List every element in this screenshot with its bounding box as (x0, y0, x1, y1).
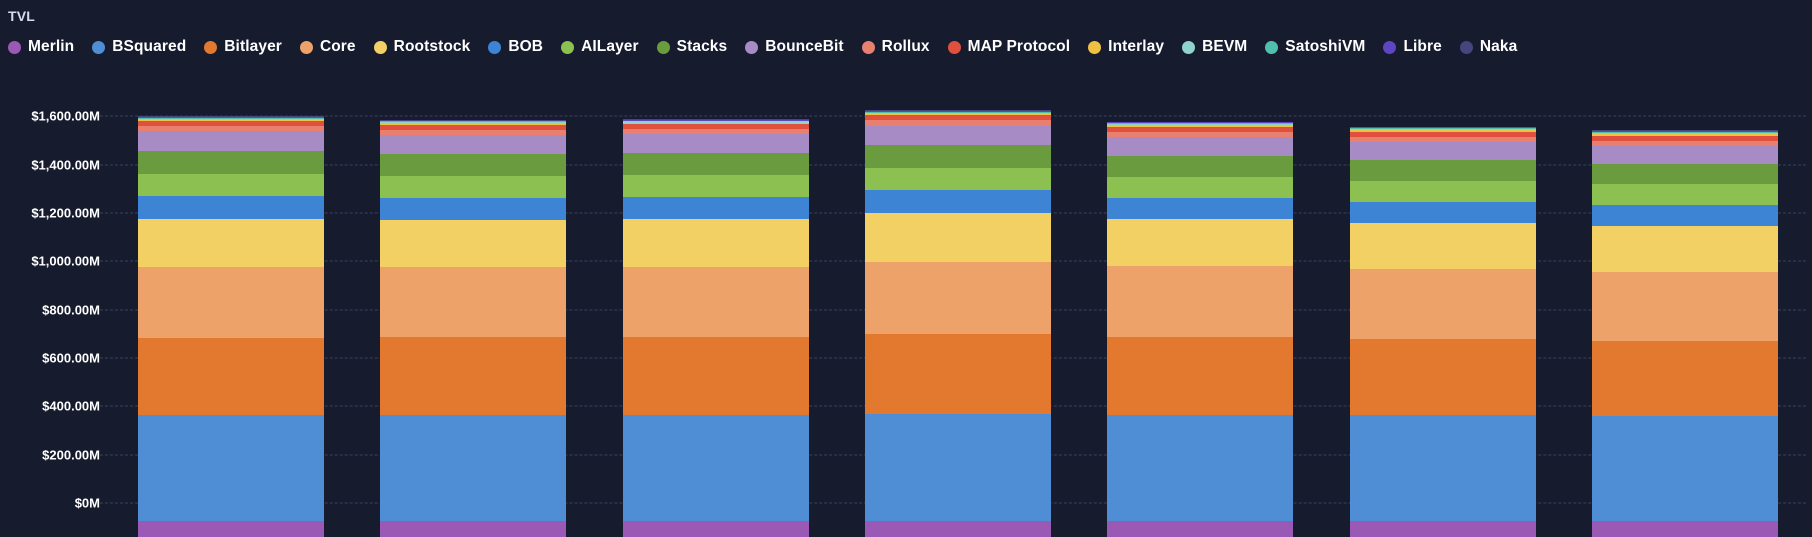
bar-segment-stacks[interactable] (1592, 164, 1778, 184)
plot-area: $1,600.00M$1,400.00M$1,200.00M$1,000.00M… (0, 68, 1812, 537)
bar-segment-bob[interactable] (1350, 202, 1536, 223)
legend-item-label: Merlin (28, 38, 74, 56)
y-axis-tick-label: $1,600.00M (31, 109, 100, 124)
bar-segment-bouncebit[interactable] (865, 126, 1051, 146)
bar-segment-rootstock[interactable] (1350, 223, 1536, 269)
bar-segment-bouncebit[interactable] (1350, 142, 1536, 160)
bar-segment-ailayer[interactable] (1592, 184, 1778, 205)
legend-item-label: SatoshiVM (1285, 38, 1365, 56)
legend-item-label: Interlay (1108, 38, 1164, 56)
legend-item-bevm[interactable]: BEVM (1182, 38, 1247, 56)
legend-item-core[interactable]: Core (300, 38, 356, 56)
bar-group: June 18, 2025 (1079, 102, 1321, 537)
legend-item-interlay[interactable]: Interlay (1088, 38, 1164, 56)
legend-swatch-icon (374, 41, 387, 54)
y-axis-tick-label: $1,000.00M (31, 254, 100, 269)
y-axis-tick-label: $1,200.00M (31, 206, 100, 221)
bar-segment-bsquared[interactable] (623, 415, 809, 522)
legend-item-map-protocol[interactable]: MAP Protocol (948, 38, 1071, 56)
bar-segment-merlin[interactable] (1350, 521, 1536, 537)
bar-segment-ailayer[interactable] (623, 175, 809, 197)
chart-root: TVL MerlinBSquaredBitlayerCoreRootstockB… (0, 0, 1812, 537)
bar-group: June 16, 2025 (595, 102, 837, 537)
legend-swatch-icon (862, 41, 875, 54)
bar-segment-stacks[interactable] (865, 145, 1051, 168)
bar-segment-bsquared[interactable] (865, 414, 1051, 522)
bar-segment-bob[interactable] (380, 198, 566, 220)
bar-segment-bitlayer[interactable] (138, 338, 324, 416)
legend-item-label: MAP Protocol (968, 38, 1071, 56)
bar-group: June 20, 2025 (1564, 102, 1806, 537)
bar-segment-bouncebit[interactable] (138, 131, 324, 151)
legend-item-label: Stacks (677, 38, 728, 56)
bar-segment-bsquared[interactable] (380, 415, 566, 521)
bar-segment-ailayer[interactable] (138, 174, 324, 196)
bar-segment-bouncebit[interactable] (1107, 137, 1293, 156)
bar-segment-bob[interactable] (1592, 205, 1778, 226)
legend-item-label: BEVM (1202, 38, 1247, 56)
bar-segment-stacks[interactable] (380, 154, 566, 176)
legend-swatch-icon (8, 41, 21, 54)
legend-item-ailayer[interactable]: AILayer (561, 38, 639, 56)
legend-swatch-icon (1182, 41, 1195, 54)
legend-swatch-icon (92, 41, 105, 54)
bar-segment-bitlayer[interactable] (623, 337, 809, 415)
bar-segment-bob[interactable] (1107, 198, 1293, 219)
bar-segment-core[interactable] (1107, 266, 1293, 337)
bar-segment-bitlayer[interactable] (1592, 341, 1778, 417)
bar-segment-core[interactable] (138, 267, 324, 338)
bar-group: June 14, 2025 (110, 102, 352, 537)
bar-segment-ailayer[interactable] (1350, 181, 1536, 202)
bar-segment-rootstock[interactable] (865, 213, 1051, 262)
legend-item-stacks[interactable]: Stacks (657, 38, 728, 56)
chart-legend: MerlinBSquaredBitlayerCoreRootstockBOBAI… (8, 36, 1808, 58)
y-axis-tick-label: $0M (75, 496, 100, 511)
bar-segment-core[interactable] (380, 267, 566, 337)
legend-item-bitlayer[interactable]: Bitlayer (204, 38, 282, 56)
bar-series-container: June 14, 2025June 15, 2025June 16, 2025J… (110, 68, 1806, 537)
bar-group: June 19, 2025 (1321, 102, 1563, 537)
stacked-bar[interactable] (865, 110, 1051, 537)
legend-item-bsquared[interactable]: BSquared (92, 38, 186, 56)
bar-segment-bsquared[interactable] (1350, 415, 1536, 521)
bar-segment-core[interactable] (623, 267, 809, 337)
legend-swatch-icon (1383, 41, 1396, 54)
bar-segment-bitlayer[interactable] (380, 337, 566, 416)
bar-segment-merlin[interactable] (138, 521, 324, 537)
bar-segment-bouncebit[interactable] (380, 135, 566, 154)
bar-segment-bitlayer[interactable] (1350, 339, 1536, 416)
bar-segment-rootstock[interactable] (138, 219, 324, 267)
legend-swatch-icon (1460, 41, 1473, 54)
bar-group: June 17, 2025 (837, 102, 1079, 537)
bar-segment-bouncebit[interactable] (623, 134, 809, 153)
bar-segment-merlin[interactable] (1107, 521, 1293, 537)
legend-swatch-icon (948, 41, 961, 54)
bar-segment-bob[interactable] (865, 190, 1051, 213)
bar-segment-bitlayer[interactable] (865, 334, 1051, 414)
legend-item-satoshivm[interactable]: SatoshiVM (1265, 38, 1365, 56)
bar-segment-rootstock[interactable] (1592, 226, 1778, 272)
legend-swatch-icon (204, 41, 217, 54)
legend-item-label: Bitlayer (224, 38, 282, 56)
legend-item-naka[interactable]: Naka (1460, 38, 1517, 56)
legend-item-rollux[interactable]: Rollux (862, 38, 930, 56)
legend-item-bouncebit[interactable]: BounceBit (745, 38, 843, 56)
bar-segment-bob[interactable] (623, 197, 809, 219)
legend-item-bob[interactable]: BOB (488, 38, 543, 56)
bar-segment-bsquared[interactable] (138, 415, 324, 521)
bar-segment-merlin[interactable] (380, 521, 566, 537)
stacked-bar[interactable] (623, 119, 809, 537)
legend-item-label: Rollux (882, 38, 930, 56)
y-axis-tick-label: $200.00M (42, 447, 100, 462)
bar-segment-ailayer[interactable] (380, 176, 566, 198)
bar-segment-rootstock[interactable] (380, 220, 566, 267)
bar-group: June 15, 2025 (352, 102, 594, 537)
bar-segment-ailayer[interactable] (865, 168, 1051, 190)
bar-segment-bsquared[interactable] (1107, 415, 1293, 522)
page-title: TVL (8, 8, 35, 24)
bar-segment-stacks[interactable] (138, 151, 324, 174)
legend-swatch-icon (1088, 41, 1101, 54)
legend-swatch-icon (561, 41, 574, 54)
bar-segment-stacks[interactable] (1107, 156, 1293, 177)
legend-item-label: Rootstock (394, 38, 471, 56)
bar-segment-bob[interactable] (138, 196, 324, 219)
y-axis-tick-label: $800.00M (42, 302, 100, 317)
bar-segment-bouncebit[interactable] (1592, 146, 1778, 164)
legend-item-label: BounceBit (765, 38, 843, 56)
legend-item-label: BOB (508, 38, 543, 56)
legend-swatch-icon (488, 41, 501, 54)
stacked-bar[interactable] (380, 120, 566, 537)
y-axis: $1,600.00M$1,400.00M$1,200.00M$1,000.00M… (0, 68, 110, 537)
bar-segment-ailayer[interactable] (1107, 177, 1293, 198)
legend-item-label: Naka (1480, 38, 1517, 56)
bar-segment-merlin[interactable] (1592, 521, 1778, 537)
bar-segment-core[interactable] (1592, 272, 1778, 341)
bar-segment-core[interactable] (1350, 269, 1536, 339)
legend-item-label: AILayer (581, 38, 639, 56)
y-axis-tick-label: $400.00M (42, 399, 100, 414)
y-axis-tick-label: $1,400.00M (31, 157, 100, 172)
bar-segment-rootstock[interactable] (1107, 219, 1293, 266)
bar-segment-merlin[interactable] (623, 521, 809, 537)
bar-segment-rootstock[interactable] (623, 219, 809, 267)
bar-segment-stacks[interactable] (623, 153, 809, 175)
legend-item-merlin[interactable]: Merlin (8, 38, 74, 56)
bar-segment-stacks[interactable] (1350, 160, 1536, 181)
legend-swatch-icon (1265, 41, 1278, 54)
stacked-bar[interactable] (1592, 130, 1778, 537)
bar-segment-bsquared[interactable] (1592, 416, 1778, 521)
bar-segment-merlin[interactable] (865, 521, 1051, 537)
legend-item-rootstock[interactable]: Rootstock (374, 38, 471, 56)
stacked-bar[interactable] (1350, 127, 1536, 537)
legend-swatch-icon (300, 41, 313, 54)
legend-swatch-icon (657, 41, 670, 54)
legend-item-label: Libre (1403, 38, 1441, 56)
stacked-bar[interactable] (1107, 122, 1293, 537)
legend-item-libre[interactable]: Libre (1383, 38, 1441, 56)
bar-segment-core[interactable] (865, 262, 1051, 334)
bar-segment-bitlayer[interactable] (1107, 337, 1293, 415)
legend-item-label: BSquared (112, 38, 186, 56)
stacked-bar[interactable] (138, 116, 324, 537)
legend-swatch-icon (745, 41, 758, 54)
legend-item-label: Core (320, 38, 356, 56)
y-axis-tick-label: $600.00M (42, 351, 100, 366)
